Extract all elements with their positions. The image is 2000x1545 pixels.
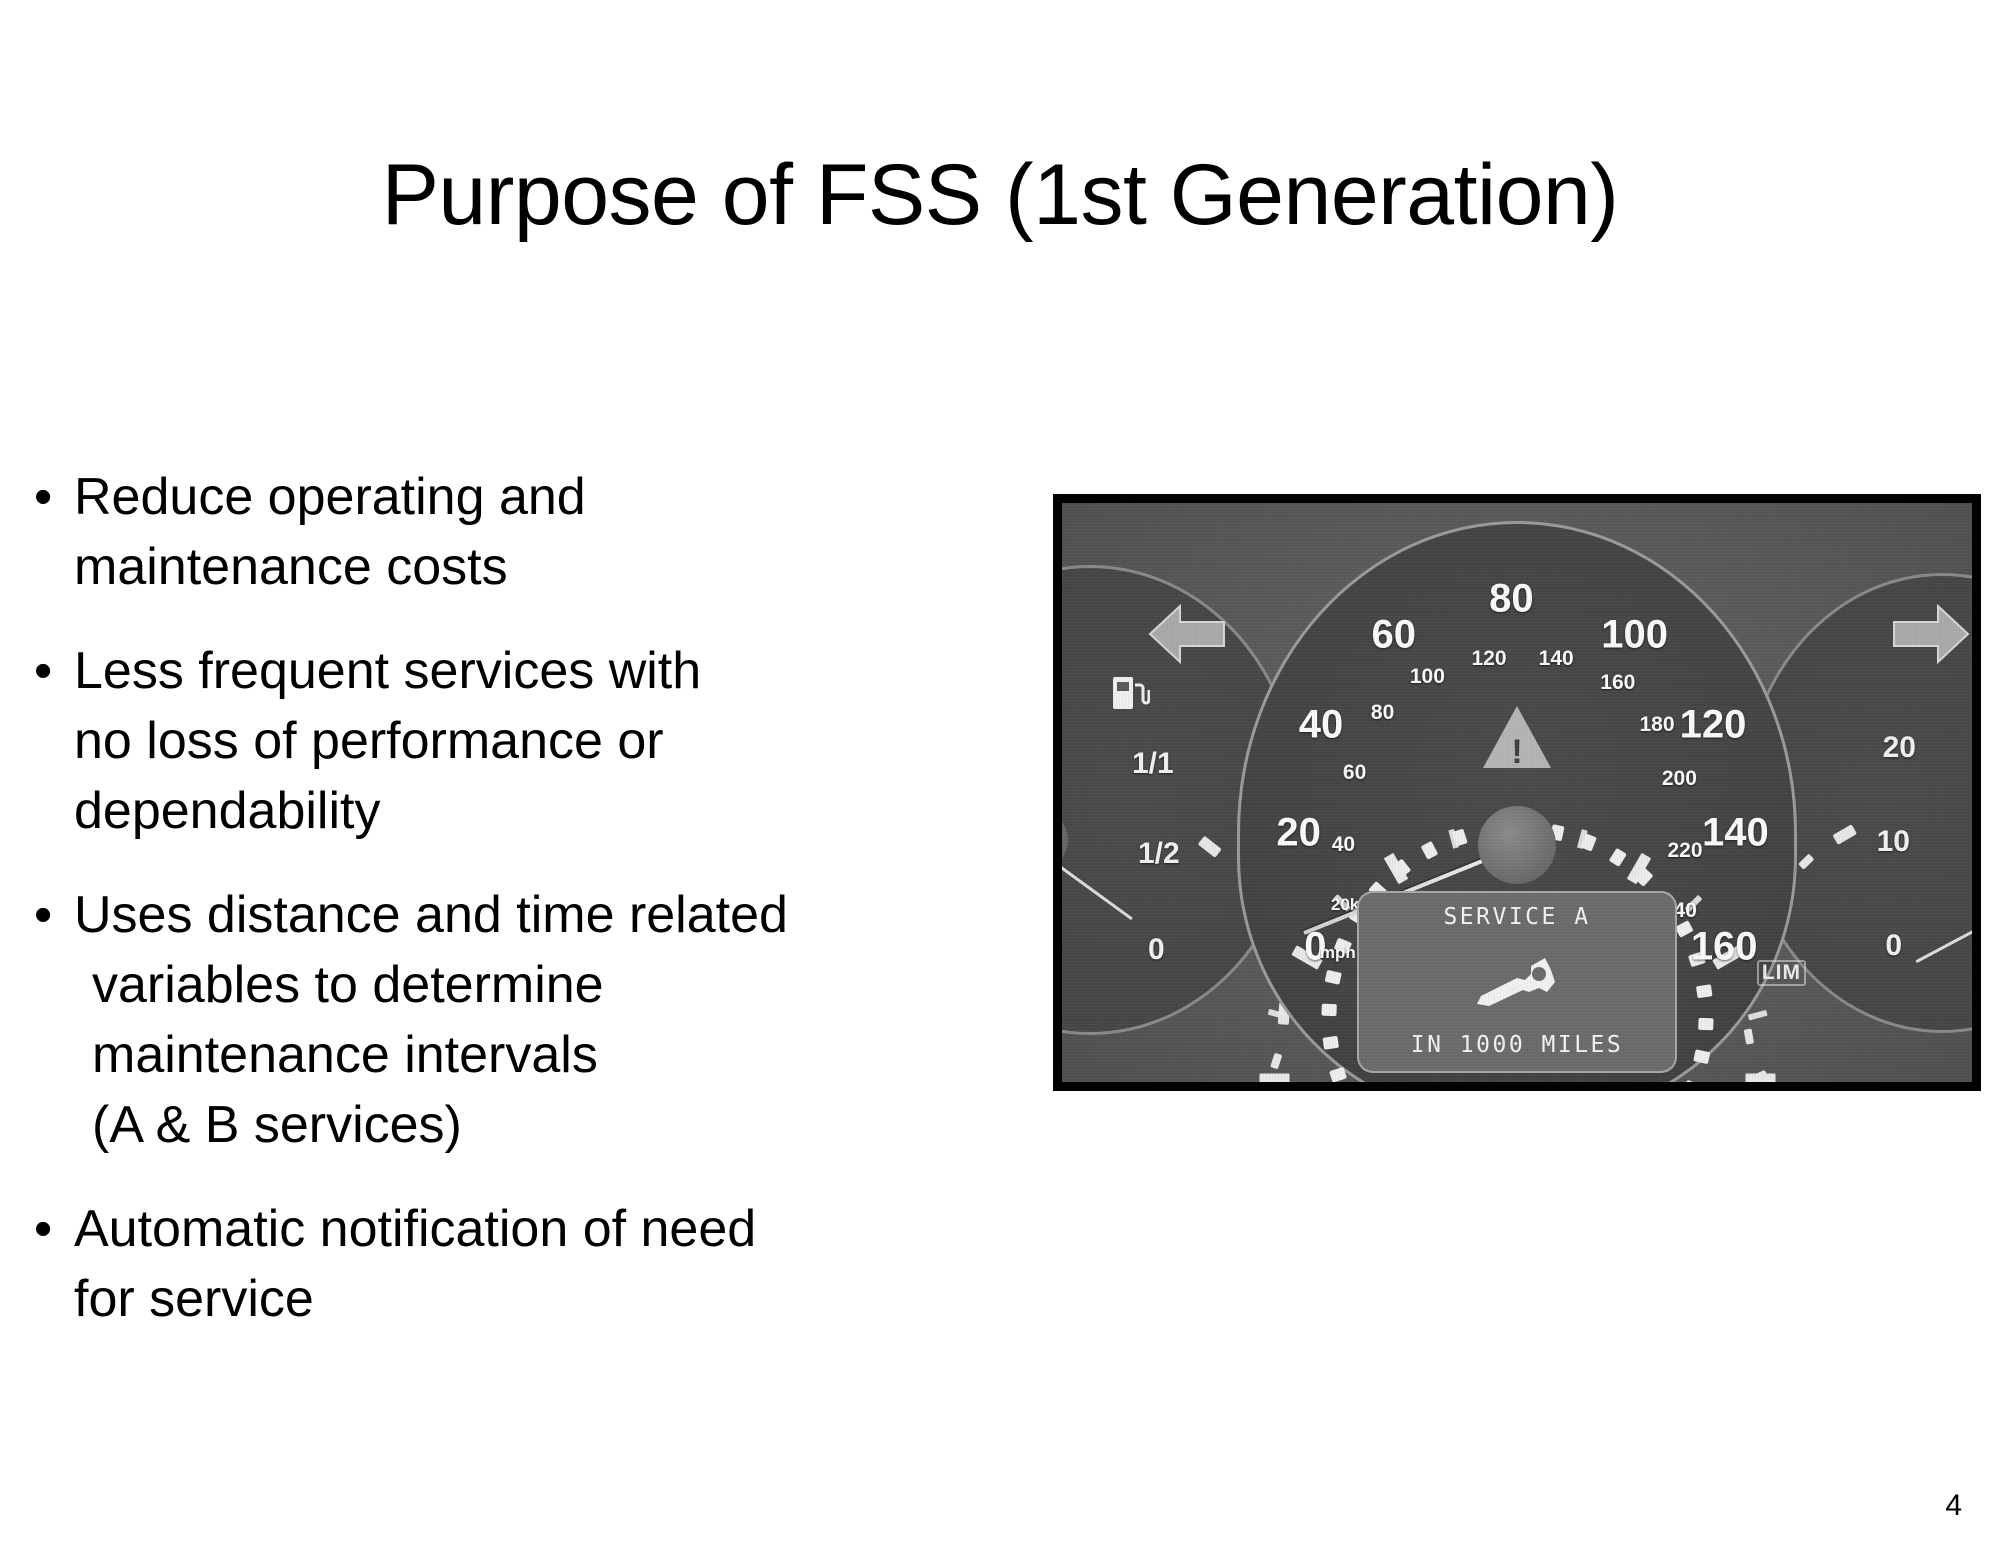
page-number: 4 (1945, 1489, 1962, 1523)
instrument-cluster-photo: 1/1 1/2 0 20 10 0 (1053, 494, 1981, 1091)
speed-label-kmh-140: 140 (1539, 647, 1574, 671)
speedometer: 80 60 100 40 120 20 140 0 160 80 100 120… (1237, 521, 1797, 1091)
page-title: Purpose of FSS (1st Generation) (0, 152, 2000, 238)
slide-root: Purpose of FSS (1st Generation) • Reduce… (0, 0, 2000, 1545)
right-gauge-label-10: 10 (1877, 825, 1910, 859)
speed-label-kmh-100: 100 (1410, 665, 1445, 689)
service-message-display: SERVICE A IN 1000 MILES (1357, 891, 1677, 1073)
fuel-pump-icon (1110, 671, 1150, 715)
service-message-line-2: IN 1000 MILES (1411, 1032, 1624, 1058)
speed-label-mph-40: 40 (1299, 703, 1344, 748)
list-item: • Less frequent services with no loss of… (34, 636, 1044, 846)
bullet-list: • Reduce operating and maintenance costs… (34, 462, 1044, 1368)
warning-exclamation: ! (1511, 735, 1522, 769)
speed-label-kmh-60: 60 (1343, 761, 1366, 785)
bullet-marker: • (34, 1194, 74, 1264)
speed-unit-mph: mph (1320, 943, 1356, 963)
bullet-marker: • (34, 462, 74, 532)
list-item-line: Less frequent services with (74, 636, 1044, 706)
list-item-line: (A & B services) (74, 1090, 1044, 1160)
speed-label-mph-20: 20 (1276, 811, 1321, 856)
right-gauge-needle (1915, 904, 1981, 963)
speed-label-kmh-160: 160 (1600, 671, 1635, 695)
speed-label-mph-140: 140 (1702, 811, 1769, 856)
list-item: • Automatic notification of need for ser… (34, 1194, 1044, 1334)
bullet-marker: • (34, 636, 74, 706)
list-item-line: variables to determine (74, 950, 1044, 1020)
wrench-icon (1469, 952, 1565, 1010)
speed-label-kmh-40: 40 (1332, 833, 1355, 857)
list-item-line: for service (74, 1264, 1044, 1334)
speed-label-kmh-220: 220 (1667, 839, 1702, 863)
speed-label-kmh-200: 200 (1662, 767, 1697, 791)
list-item-line: maintenance intervals (74, 1020, 1044, 1090)
speed-label-mph-160: 160 (1691, 925, 1758, 970)
right-gauge-label-0: 0 (1885, 929, 1902, 963)
list-item-line: dependability (74, 776, 1044, 846)
list-item-text: Uses distance and time related variables… (74, 880, 1044, 1160)
list-item-text: Automatic notification of need for servi… (74, 1194, 1044, 1334)
bullet-marker: • (34, 880, 74, 950)
speed-label-mph-120: 120 (1680, 703, 1747, 748)
speed-label-mph-100: 100 (1601, 613, 1668, 658)
service-message-line-1: SERVICE A (1443, 904, 1590, 930)
list-item-line: Uses distance and time related (74, 880, 1044, 950)
list-item-text: Reduce operating and maintenance costs (74, 462, 1044, 602)
speed-label-kmh-180: 180 (1639, 713, 1674, 737)
fuel-needle-hub (1053, 809, 1068, 871)
list-item-line: maintenance costs (74, 532, 1044, 602)
speedometer-hub (1478, 806, 1556, 884)
fuel-needle (1053, 847, 1133, 920)
list-item-text: Less frequent services with no loss of p… (74, 636, 1044, 846)
speed-limiter-indicator: LIM (1757, 960, 1806, 986)
list-item-line: Automatic notification of need (74, 1194, 1044, 1264)
fuel-label-full: 1/1 (1132, 747, 1174, 781)
list-item: • Reduce operating and maintenance costs (34, 462, 1044, 602)
list-item-line: no loss of performance or (74, 706, 1044, 776)
speed-label-mph-80: 80 (1489, 577, 1534, 622)
list-item: • Uses distance and time related variabl… (34, 880, 1044, 1160)
fuel-label-empty: 0 (1148, 933, 1165, 967)
speed-label-kmh-120: 120 (1471, 647, 1506, 671)
fuel-label-half: 1/2 (1138, 837, 1180, 871)
right-gauge-label-20: 20 (1883, 731, 1916, 765)
speed-label-kmh-80: 80 (1371, 701, 1394, 725)
list-item-line: Reduce operating and (74, 462, 1044, 532)
cluster-background: 1/1 1/2 0 20 10 0 (1062, 503, 1972, 1082)
speed-label-mph-60: 60 (1372, 613, 1417, 658)
